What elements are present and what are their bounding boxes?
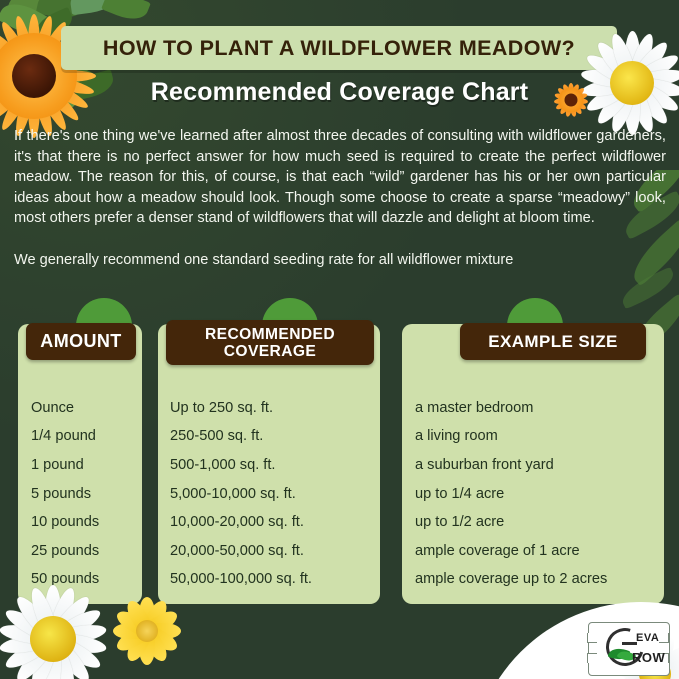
body-paragraph-1: If there's one thing we've learned after… — [14, 126, 666, 229]
column-header-line-1: RECOMMENDED — [205, 326, 335, 343]
table-row: a master bedroom — [415, 394, 677, 423]
table-row: 25 pounds — [31, 537, 155, 566]
table-row: Ounce — [31, 394, 155, 423]
column-example-size: a master bedroom a living room a suburba… — [402, 324, 664, 604]
logo-text-row: ROW — [632, 650, 665, 665]
table-row: 5,000-10,000 sq. ft. — [170, 480, 392, 509]
table-row: 10,000-20,000 sq. ft. — [170, 508, 392, 537]
column-amount: Ounce 1/4 pound 1 pound 5 pounds 10 poun… — [18, 324, 142, 604]
table-row: up to 1/4 acre — [415, 480, 677, 509]
yellow-coreopsis-flower-icon — [108, 592, 186, 670]
logo-g-bar — [622, 642, 637, 645]
column-example-rows: a master bedroom a living room a suburba… — [402, 394, 677, 594]
table-row: 1/4 pound — [31, 423, 155, 452]
column-1-bump-decoration — [76, 298, 132, 326]
column-3-bump-decoration — [507, 298, 563, 326]
table-row: ample coverage of 1 acre — [415, 537, 677, 566]
small-orange-center — [565, 94, 578, 107]
coverage-table: Ounce 1/4 pound 1 pound 5 pounds 10 poun… — [0, 300, 679, 605]
column-header-amount: AMOUNT — [26, 323, 136, 360]
column-header-line-2: COVERAGE — [205, 343, 335, 360]
table-row: 20,000-50,000 sq. ft. — [170, 537, 392, 566]
table-row: 50,000-100,000 sq. ft. — [170, 566, 392, 595]
body-copy: If there's one thing we've learned after… — [14, 126, 666, 270]
table-row: up to 1/2 acre — [415, 508, 677, 537]
logo-bracket-top-left — [587, 633, 597, 643]
small-orange-flower-icon — [553, 82, 589, 118]
table-row: 250-500 sq. ft. — [170, 423, 392, 452]
table-row: ample coverage up to 2 acres — [415, 566, 677, 595]
body-paragraph-2: We generally recommend one standard seed… — [14, 250, 666, 271]
logo-bracket-top-right — [659, 633, 669, 643]
column-header-recommended-coverage: RECOMMENDED COVERAGE — [166, 320, 374, 365]
column-coverage-rows: Up to 250 sq. ft. 250-500 sq. ft. 500-1,… — [158, 394, 392, 594]
daisy-flower-icon — [0, 578, 114, 679]
daisy-center — [30, 616, 76, 662]
title-banner: HOW TO PLANT A WILDFLOWER MEADOW? — [61, 26, 617, 70]
table-row: 10 pounds — [31, 508, 155, 537]
table-row: 1 pound — [31, 451, 155, 480]
eva-grow-logo[interactable]: EVA ROW — [588, 622, 668, 674]
table-row: a living room — [415, 423, 677, 452]
logo-text-eva: EVA — [636, 632, 659, 644]
yellow-flower-center — [136, 620, 158, 642]
table-row: Up to 250 sq. ft. — [170, 394, 392, 423]
logo-bracket-bottom-left — [587, 653, 597, 663]
table-row: 500-1,000 sq. ft. — [170, 451, 392, 480]
table-row: a suburban front yard — [415, 451, 677, 480]
infographic-canvas: HOW TO PLANT A WILDFLOWER MEADOW? Recomm… — [0, 0, 679, 679]
column-header-example-size: EXAMPLE SIZE — [460, 323, 646, 360]
column-amount-rows: Ounce 1/4 pound 1 pound 5 pounds 10 poun… — [18, 394, 155, 594]
column-recommended-coverage: Up to 250 sq. ft. 250-500 sq. ft. 500-1,… — [158, 324, 380, 604]
page-title: HOW TO PLANT A WILDFLOWER MEADOW? — [103, 36, 575, 61]
table-row: 5 pounds — [31, 480, 155, 509]
